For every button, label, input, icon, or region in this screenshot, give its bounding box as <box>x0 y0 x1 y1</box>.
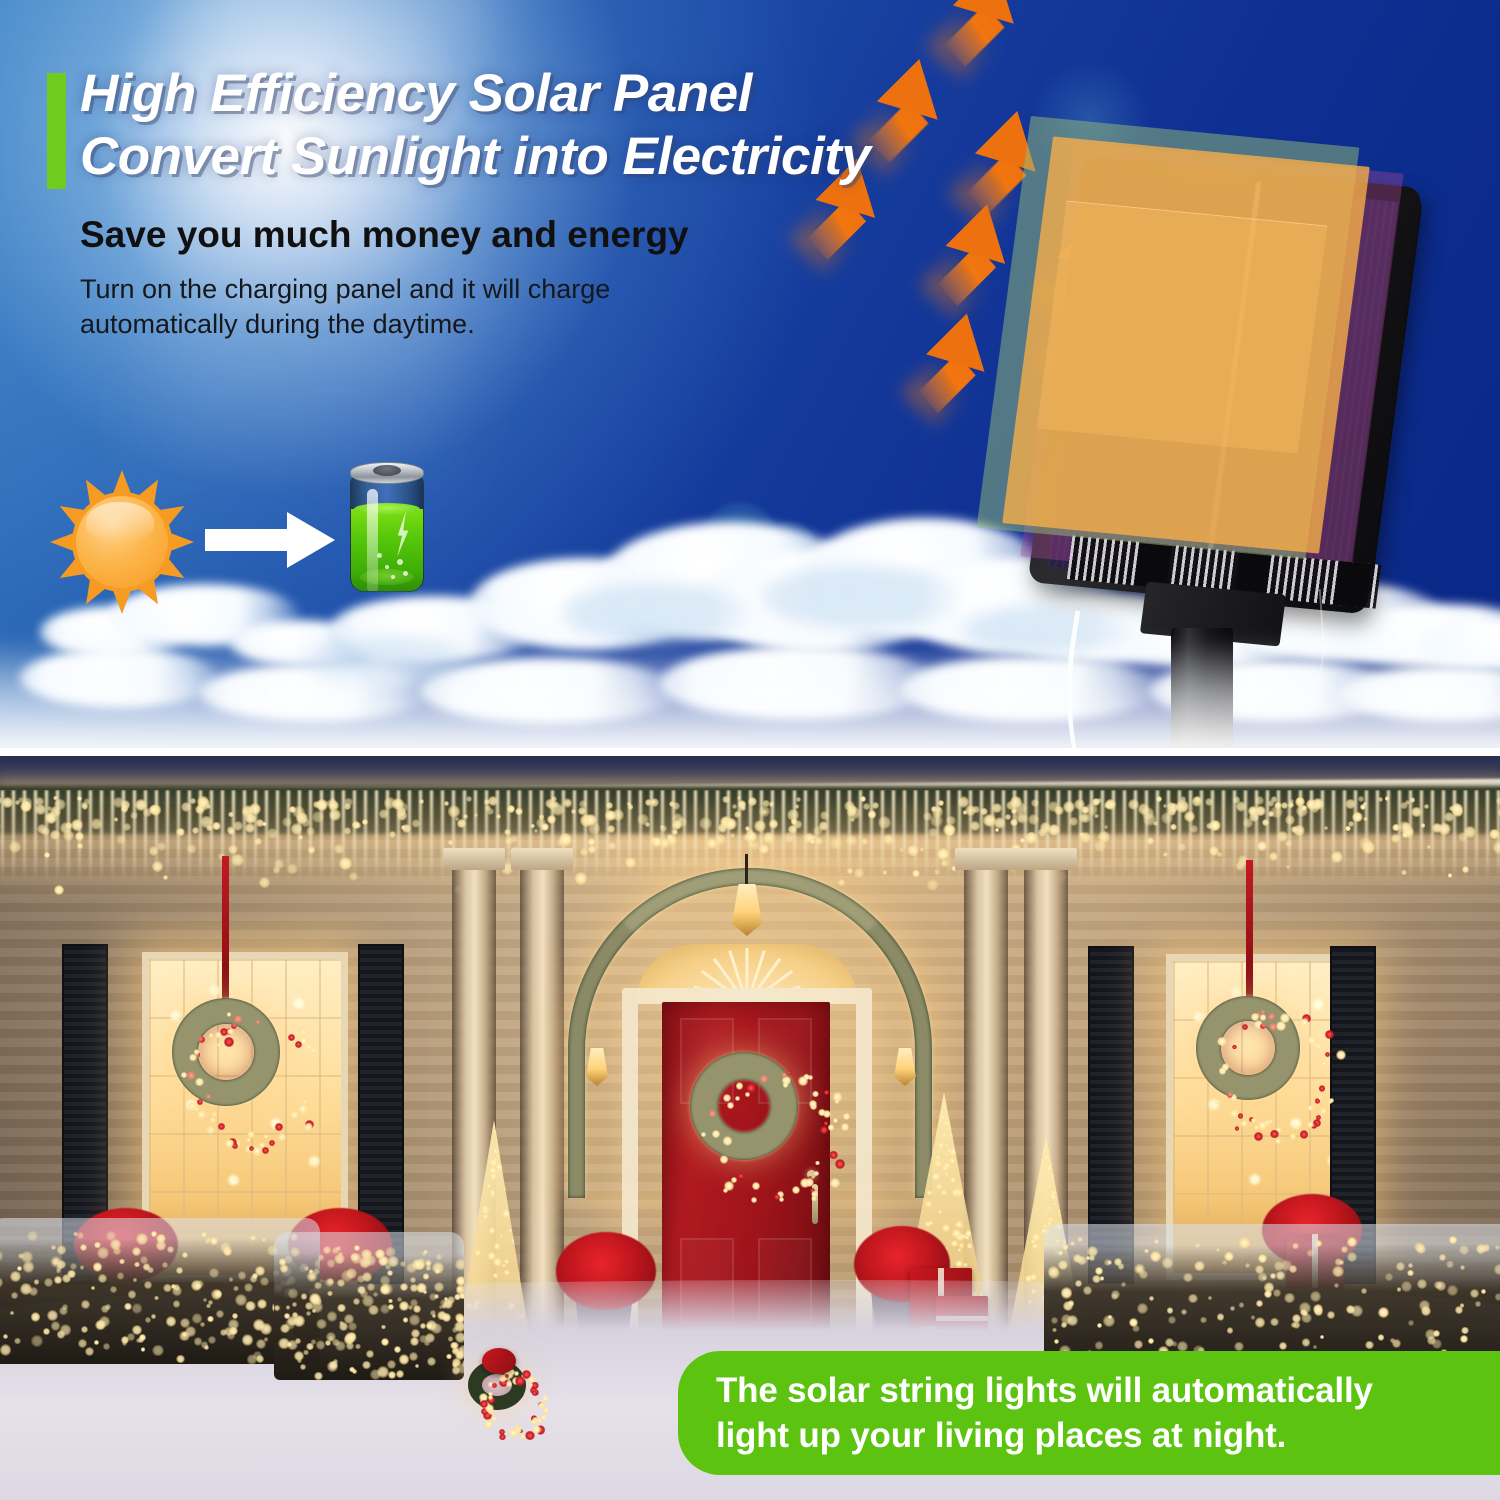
string-light-bulb <box>1227 1327 1233 1333</box>
string-light-bulb <box>1286 865 1290 869</box>
string-light-bulb <box>1408 1263 1413 1268</box>
string-light-bulb <box>17 1266 22 1271</box>
string-light-bulb <box>829 1151 838 1160</box>
string-light-bulb <box>1346 1305 1355 1314</box>
string-light-bulb <box>1200 1317 1206 1323</box>
arrow-shaft <box>205 529 291 551</box>
string-light-bulb <box>1292 1243 1299 1250</box>
porch-column-cap <box>511 848 573 870</box>
string-light-bulb <box>1235 1126 1240 1131</box>
string-light-bulb <box>312 811 324 823</box>
string-light-bulb <box>1028 814 1039 825</box>
string-light-bulb <box>1038 828 1047 837</box>
string-light-bulb <box>273 866 281 874</box>
battery-charging-icon <box>346 462 428 596</box>
red-bow <box>482 1348 516 1374</box>
porch-column-cap <box>1015 848 1077 870</box>
string-light-bulb <box>1058 1250 1063 1255</box>
string-light-bulb <box>31 1335 43 1347</box>
string-light-bulb <box>1470 1289 1479 1298</box>
caption-line-1: The solar string lights will automatical… <box>716 1368 1373 1413</box>
string-light-bulb <box>2 797 13 808</box>
string-light-bulb <box>930 814 943 827</box>
string-light-bulb <box>298 835 303 840</box>
string-light-bulb <box>532 1390 537 1395</box>
string-light-bulb <box>1132 1325 1139 1332</box>
string-light-bulb <box>446 1354 451 1359</box>
string-light-bulb <box>580 848 588 856</box>
string-light-bulb <box>152 1345 164 1357</box>
string-light-bulb <box>769 819 779 829</box>
string-light-bulb <box>731 1177 737 1183</box>
string-light-bulb <box>357 1275 366 1284</box>
string-light-bulb <box>784 832 795 843</box>
string-light-bulb <box>75 832 84 841</box>
string-light-bulb <box>367 1283 375 1291</box>
string-light-bulb <box>254 838 262 846</box>
string-light-bulb <box>299 1028 308 1037</box>
product-feature-image: High Efficiency Solar Panel Convert Sunl… <box>0 0 1500 1500</box>
string-light-bulb <box>436 1254 442 1260</box>
string-light-bulb <box>1052 1328 1056 1332</box>
string-light-bulb <box>212 822 221 831</box>
string-light-bulb <box>1324 826 1329 831</box>
string-light-bulb <box>1181 1309 1187 1315</box>
string-light-bulb <box>41 827 50 836</box>
string-light-bulb <box>245 1301 255 1311</box>
string-light-bulb <box>883 834 894 845</box>
string-light-bulb <box>515 808 523 816</box>
string-light-bulb <box>1449 1236 1457 1244</box>
string-light-bulb <box>1188 1294 1197 1303</box>
string-light-bulb <box>606 802 613 809</box>
string-light-bulb <box>1156 796 1162 802</box>
string-light-bulb <box>70 1263 77 1270</box>
string-light-bulb <box>482 1206 488 1212</box>
string-light-bulb <box>1147 837 1155 845</box>
string-light-bulb <box>78 1339 87 1348</box>
string-light-bulb <box>980 808 987 815</box>
string-light-bulb <box>353 1298 360 1305</box>
string-light-bulb <box>284 1313 289 1318</box>
string-light-bulb <box>1058 1260 1068 1270</box>
string-light-bulb <box>1315 1240 1322 1247</box>
string-light-bulb <box>134 1262 140 1268</box>
string-light-bulb <box>426 1323 433 1330</box>
string-light-bulb <box>1183 1273 1193 1283</box>
string-light-bulb <box>1184 811 1195 822</box>
string-light-bulb <box>105 1304 111 1310</box>
string-light-bulb <box>938 1142 944 1148</box>
string-light-bulb <box>510 835 518 843</box>
body-text: Turn on the charging panel and it will c… <box>80 272 760 342</box>
string-light-bulb <box>489 1227 496 1234</box>
porch-column-cap <box>955 848 1017 870</box>
string-light-bulb <box>941 1190 947 1196</box>
string-light-bulb <box>770 801 774 805</box>
string-light-bulb <box>951 1240 958 1247</box>
string-light-bulb <box>1495 1245 1500 1250</box>
caption-line-2: light up your living places at night. <box>716 1413 1373 1458</box>
string-light-bulb <box>945 1153 948 1156</box>
string-light-bulb <box>206 1126 215 1135</box>
string-light-bulb <box>144 1281 151 1288</box>
string-light-bulb <box>200 1322 205 1327</box>
string-light-bulb <box>828 1124 834 1130</box>
string-light-bulb <box>1111 1293 1118 1300</box>
string-light-bulb <box>91 818 102 829</box>
string-light-bulb <box>280 1324 289 1333</box>
string-light-bulb <box>1162 1257 1173 1268</box>
string-light-bulb <box>942 1165 948 1171</box>
string-light-bulb <box>197 1110 206 1119</box>
string-light-bulb <box>1345 799 1355 809</box>
string-light-bulb <box>530 824 535 829</box>
string-light-bulb <box>308 846 315 853</box>
string-light-bulb <box>262 1238 266 1242</box>
string-light-bulb <box>192 827 199 834</box>
string-light-bulb <box>346 1342 354 1350</box>
string-light-bulb <box>379 809 389 819</box>
string-light-bulb <box>145 1317 152 1324</box>
string-light-bulb <box>1410 797 1416 803</box>
string-light-bulb <box>1421 823 1426 828</box>
string-light-bulb <box>156 1234 165 1243</box>
string-light-bulb <box>81 802 88 809</box>
string-light-bulb <box>62 1304 68 1310</box>
string-light-bulb <box>354 1245 360 1251</box>
string-light-bulb <box>1255 796 1263 804</box>
string-light-bulb <box>463 814 468 819</box>
string-light-bulb <box>132 1303 143 1314</box>
string-light-bulb <box>1391 834 1401 844</box>
string-light-bulb <box>275 1123 283 1131</box>
string-light-bulb <box>1438 823 1450 835</box>
string-light-bulb <box>779 1197 784 1202</box>
string-light-bulb <box>1032 1243 1039 1250</box>
string-light-bulb <box>1095 1267 1104 1276</box>
string-light-bulb <box>203 1298 207 1302</box>
string-light-bulb <box>1459 1245 1469 1255</box>
string-light-bulb <box>444 801 449 806</box>
string-light-bulb <box>1240 1120 1248 1128</box>
string-light-bulb <box>246 1138 251 1143</box>
string-light-bulb <box>1347 1237 1357 1247</box>
string-light-bulb <box>942 1133 946 1137</box>
string-light-bulb <box>1300 1018 1309 1027</box>
string-light-bulb <box>1341 1246 1348 1253</box>
string-light-bulb <box>256 819 264 827</box>
string-light-bulb <box>942 1224 950 1232</box>
string-light-bulb <box>934 869 940 875</box>
string-light-bulb <box>140 1256 147 1263</box>
string-light-bulb <box>534 829 538 833</box>
string-light-bulb <box>454 1294 460 1300</box>
string-light-bulb <box>759 844 769 854</box>
string-light-bulb <box>457 819 466 828</box>
string-light-bulb <box>434 1282 444 1292</box>
string-light-bulb <box>795 804 800 809</box>
string-light-bulb <box>941 859 949 867</box>
headline-line-1: High Efficiency Solar Panel <box>80 62 1040 125</box>
string-light-bulb <box>745 826 750 831</box>
string-light-bulb <box>57 1330 65 1338</box>
string-light-bulb <box>456 1315 464 1324</box>
string-light-bulb <box>496 814 501 819</box>
string-light-bulb <box>208 1336 216 1344</box>
lit-hedge <box>274 1232 464 1380</box>
string-light-bulb <box>244 1283 253 1292</box>
string-light-bulb <box>1217 852 1222 857</box>
string-light-bulb <box>1310 1291 1321 1302</box>
string-light-bulb <box>190 798 196 804</box>
string-light-bulb <box>504 829 511 836</box>
caption-text: The solar string lights will automatical… <box>678 1368 1387 1458</box>
string-light-bulb <box>377 1366 389 1378</box>
string-light-bulb <box>475 1250 481 1256</box>
string-light-bulb <box>192 1313 203 1324</box>
string-light-bulb <box>435 1268 440 1273</box>
string-light-bulb <box>457 1286 462 1291</box>
string-light-bulb <box>318 1254 325 1261</box>
string-light-bulb <box>963 1263 967 1267</box>
string-light-bulb <box>198 798 210 810</box>
string-light-bulb <box>734 811 741 818</box>
string-light-bulb <box>1077 1237 1083 1243</box>
string-light-bulb <box>264 1134 268 1138</box>
string-light-bulb <box>824 1121 829 1126</box>
string-light-bulb <box>176 1267 183 1274</box>
string-light-bulb <box>1095 1341 1104 1350</box>
string-light-bulb <box>936 807 941 812</box>
string-light-bulb <box>1258 1272 1268 1282</box>
string-light-bulb <box>181 802 191 812</box>
string-light-bulb <box>1296 805 1308 817</box>
string-light-bulb <box>878 816 891 829</box>
string-light-bulb <box>29 1287 38 1296</box>
string-light-bulb <box>1446 1261 1453 1268</box>
string-light-bulb <box>1316 1115 1320 1119</box>
string-light-bulb <box>1302 1338 1311 1347</box>
string-light-bulb <box>1104 825 1108 829</box>
string-light-bulb <box>1311 805 1319 813</box>
string-light-bulb <box>1216 1248 1220 1252</box>
string-light-bulb <box>260 1323 272 1335</box>
string-light-bulb <box>945 1173 948 1176</box>
string-light-bulb <box>1178 843 1185 850</box>
string-light-bulb <box>1273 1289 1281 1297</box>
string-light-bulb <box>303 1350 308 1355</box>
string-light-bulb <box>419 799 424 804</box>
string-light-bulb <box>1063 801 1075 813</box>
string-light-bulb <box>1092 1275 1101 1284</box>
string-light-bulb <box>398 802 409 813</box>
string-light-bulb <box>1150 1251 1162 1263</box>
string-light-bulb <box>313 1268 320 1275</box>
string-light-bulb <box>409 1314 421 1326</box>
string-light-bulb <box>502 1264 506 1268</box>
string-light-bulb <box>352 1369 358 1375</box>
string-light-bulb <box>0 822 1 831</box>
string-light-bulb <box>860 796 866 802</box>
string-light-bulb <box>1209 820 1220 831</box>
string-light-bulb <box>387 1360 397 1370</box>
string-light-bulb <box>306 827 315 836</box>
string-light-bulb <box>408 1305 413 1310</box>
string-light-bulb <box>231 854 244 867</box>
string-light-bulb <box>815 1161 819 1165</box>
string-light-bulb <box>992 803 1002 813</box>
string-light-bulb <box>151 1314 157 1320</box>
string-light-bulb <box>1262 819 1269 826</box>
string-light-bulb <box>940 1114 946 1120</box>
string-light-bulb <box>1447 1285 1458 1296</box>
string-light-bulb <box>487 808 494 815</box>
string-light-bulb <box>423 1290 427 1294</box>
string-light-bulb <box>1313 1345 1317 1349</box>
hedge-net-lights <box>0 1218 320 1364</box>
string-light-bulb <box>344 1314 354 1324</box>
string-light-bulb <box>154 1296 158 1300</box>
string-light-bulb <box>462 1360 464 1368</box>
string-light-bulb <box>176 828 185 837</box>
body-line-2: automatically during the daytime. <box>80 307 760 342</box>
string-light-bulb <box>1292 1314 1301 1323</box>
string-light-bulb <box>56 1265 62 1271</box>
string-light-bulb <box>504 1259 509 1264</box>
wreath-lights <box>172 998 280 1106</box>
string-light-bulb <box>233 1286 238 1291</box>
string-light-bulb <box>1405 800 1410 805</box>
string-light-bulb <box>1075 1280 1082 1287</box>
string-light-bulb <box>861 838 868 845</box>
bubble <box>397 559 403 565</box>
wreath-lights <box>1196 996 1300 1100</box>
string-light-bulb <box>1153 821 1158 826</box>
string-light-bulb <box>1334 1283 1339 1288</box>
string-light-bulb <box>1137 1303 1148 1314</box>
string-light-bulb <box>337 1304 345 1312</box>
string-light-bulb <box>1495 1293 1500 1300</box>
wreath-lights <box>690 1052 798 1160</box>
string-light-bulb <box>899 848 904 853</box>
string-light-bulb <box>238 1271 247 1280</box>
string-light-bulb <box>114 817 118 821</box>
string-light-bulb <box>1154 1239 1159 1244</box>
string-light-bulb <box>380 1304 390 1314</box>
string-light-bulb <box>1460 1335 1469 1344</box>
string-light-bulb <box>1396 1262 1406 1272</box>
string-light-bulb <box>380 1275 391 1286</box>
string-light-bulb <box>14 1338 20 1344</box>
string-light-bulb <box>507 805 515 813</box>
string-light-bulb <box>1051 1317 1058 1324</box>
string-light-bulb <box>252 1273 258 1279</box>
string-light-bulb <box>1139 1270 1148 1279</box>
string-light-bulb <box>280 1264 288 1272</box>
string-light-bulb <box>355 822 361 828</box>
string-light-bulb <box>740 805 745 810</box>
string-light-bulb <box>287 864 298 875</box>
string-light-bulb <box>1289 1265 1296 1272</box>
string-light-bulb <box>1461 1327 1469 1335</box>
string-light-bulb <box>607 825 615 833</box>
string-light-bulb <box>121 800 131 810</box>
string-light-bulb <box>116 835 125 844</box>
string-light-bulb <box>883 870 887 874</box>
string-light-bulb <box>388 1371 396 1379</box>
string-light-bulb <box>409 1352 418 1361</box>
string-light-bulb <box>1118 1263 1125 1270</box>
string-light-bulb <box>301 1293 307 1299</box>
string-light-bulb <box>463 1334 464 1342</box>
string-light-bulb <box>434 1294 439 1299</box>
string-light-bulb <box>1307 1105 1313 1111</box>
string-light-bulb <box>128 1290 136 1298</box>
string-light-bulb <box>260 1277 268 1285</box>
string-light-bulb <box>35 804 46 815</box>
string-light-bulb <box>1081 813 1091 823</box>
string-light-bulb <box>34 1279 40 1285</box>
string-light-bulb <box>1079 832 1085 838</box>
string-light-bulb <box>1208 1296 1212 1300</box>
string-light-bulb <box>274 1305 280 1311</box>
string-light-bulb <box>218 1123 224 1129</box>
string-light-bulb <box>547 815 556 824</box>
string-light-bulb <box>952 1229 961 1238</box>
string-light-bulb <box>1319 1085 1325 1091</box>
string-light-bulb <box>492 1383 497 1388</box>
string-light-bulb <box>0 1250 3 1262</box>
string-light-bulb <box>1069 817 1077 825</box>
battery-highlight <box>367 489 378 592</box>
string-light-bulb <box>245 813 256 824</box>
string-light-bulb <box>1055 1238 1060 1243</box>
string-light-bulb <box>448 840 453 845</box>
string-light-bulb <box>147 1267 154 1274</box>
string-light-bulb <box>1270 1318 1279 1327</box>
string-light-bulb <box>500 1234 503 1237</box>
string-light-bulb <box>1279 1342 1287 1350</box>
string-light-bulb <box>327 1311 337 1321</box>
string-light-bulb <box>119 1259 124 1264</box>
string-light-bulb <box>493 1158 497 1162</box>
string-light-bulb <box>1385 1273 1393 1281</box>
string-light-bulb <box>813 826 823 836</box>
string-light-bulb <box>335 1341 346 1352</box>
string-light-bulb <box>967 1243 973 1249</box>
string-light-bulb <box>228 812 234 818</box>
string-light-bulb <box>98 1274 106 1282</box>
string-light-bulb <box>1448 873 1452 877</box>
string-light-bulb <box>1407 1270 1414 1277</box>
string-light-bulb <box>347 1333 357 1343</box>
string-light-bulb <box>1327 1311 1335 1319</box>
string-light-bulb <box>724 818 736 830</box>
string-light-bulb <box>77 1232 84 1239</box>
string-light-bulb <box>298 1104 308 1114</box>
string-light-bulb <box>413 1305 421 1313</box>
string-light-bulb <box>291 823 303 835</box>
string-light-bulb <box>1436 1281 1446 1291</box>
string-light-bulb <box>1481 1289 1486 1294</box>
string-light-bulb <box>60 822 72 834</box>
string-light-bulb <box>1318 1096 1322 1100</box>
string-light-bulb <box>292 1302 297 1307</box>
string-light-bulb <box>1365 1341 1374 1350</box>
string-light-bulb <box>815 837 823 845</box>
string-light-bulb <box>830 1178 840 1188</box>
